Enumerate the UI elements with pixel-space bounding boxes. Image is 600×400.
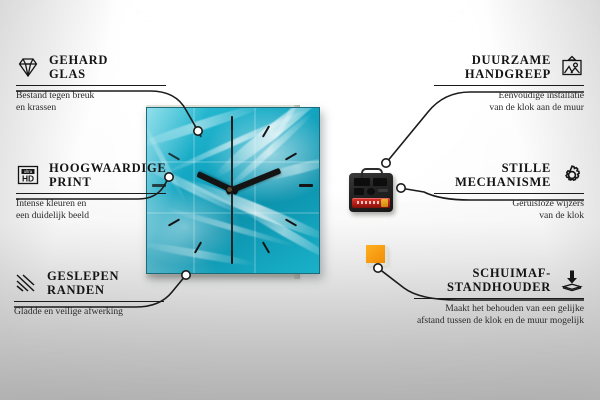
feature-stille-mechanisme: STILLE MECHANISME Geruisloze wijzers van… [434,161,584,221]
picture-frame-icon [560,55,584,79]
feature-description: Bestand tegen breuk en krassen [16,90,166,113]
feature-schuimafstandhouder: SCHUIMAF- STANDHOUDER Maakt het behouden… [414,266,584,326]
feature-title: HOOGWAARDIGE PRINT [49,161,166,189]
feature-title: GESLEPEN RANDEN [47,269,119,297]
gear-icon [560,163,584,187]
glass-wall-clock [146,107,320,274]
feature-description: Maakt het behouden van een gelijke afsta… [414,303,584,326]
infographic-canvas: GEHARD GLAS Bestand tegen breuk en krass… [0,0,600,400]
feature-duurzame-handgreep: DUURZAME HANDGREEP Eenvoudige installati… [434,53,584,113]
feature-title: STILLE MECHANISME [434,161,551,189]
feature-divider [16,85,166,86]
feature-gehard-glas: GEHARD GLAS Bestand tegen breuk en krass… [16,53,166,113]
clock-tick-3 [299,184,313,187]
feature-description: Intense kleuren en een duidelijk beeld [16,198,166,221]
ultra-hd-icon: ultra HD [16,163,40,187]
feature-divider [14,301,164,302]
feature-title: DUURZAME HANDGREEP [434,53,551,81]
feature-title: SCHUIMAF- STANDHOUDER [414,266,551,294]
foam-spacer-pad [366,245,385,263]
clock-mechanism [349,173,393,212]
wall-shadow [146,274,300,281]
clock-center-pin [227,187,232,192]
diamond-icon [16,55,40,79]
feature-description: Geruisloze wijzers van de klok [434,198,584,221]
feature-title: GEHARD GLAS [49,53,108,81]
feature-description: Gladde en veilige afwerking [14,306,164,318]
feature-divider [434,85,584,86]
down-arrow-pad-icon [560,268,584,292]
feature-divider [16,193,166,194]
feature-divider [434,193,584,194]
battery [352,198,390,208]
feature-divider [414,298,584,299]
feature-hoogwaardige-print: ultra HD HOOGWAARDIGE PRINT Intense kleu… [16,161,166,221]
feature-description: Eenvoudige installatie van de klok aan d… [434,90,584,113]
battery-terminal [381,199,388,207]
diagonal-lines-icon [14,271,38,295]
ultra-hd-icon-bottom-label: HD [22,173,34,183]
feature-geslepen-randen: GESLEPEN RANDEN Gladde en veilige afwerk… [14,269,164,318]
battery-label [357,201,381,204]
